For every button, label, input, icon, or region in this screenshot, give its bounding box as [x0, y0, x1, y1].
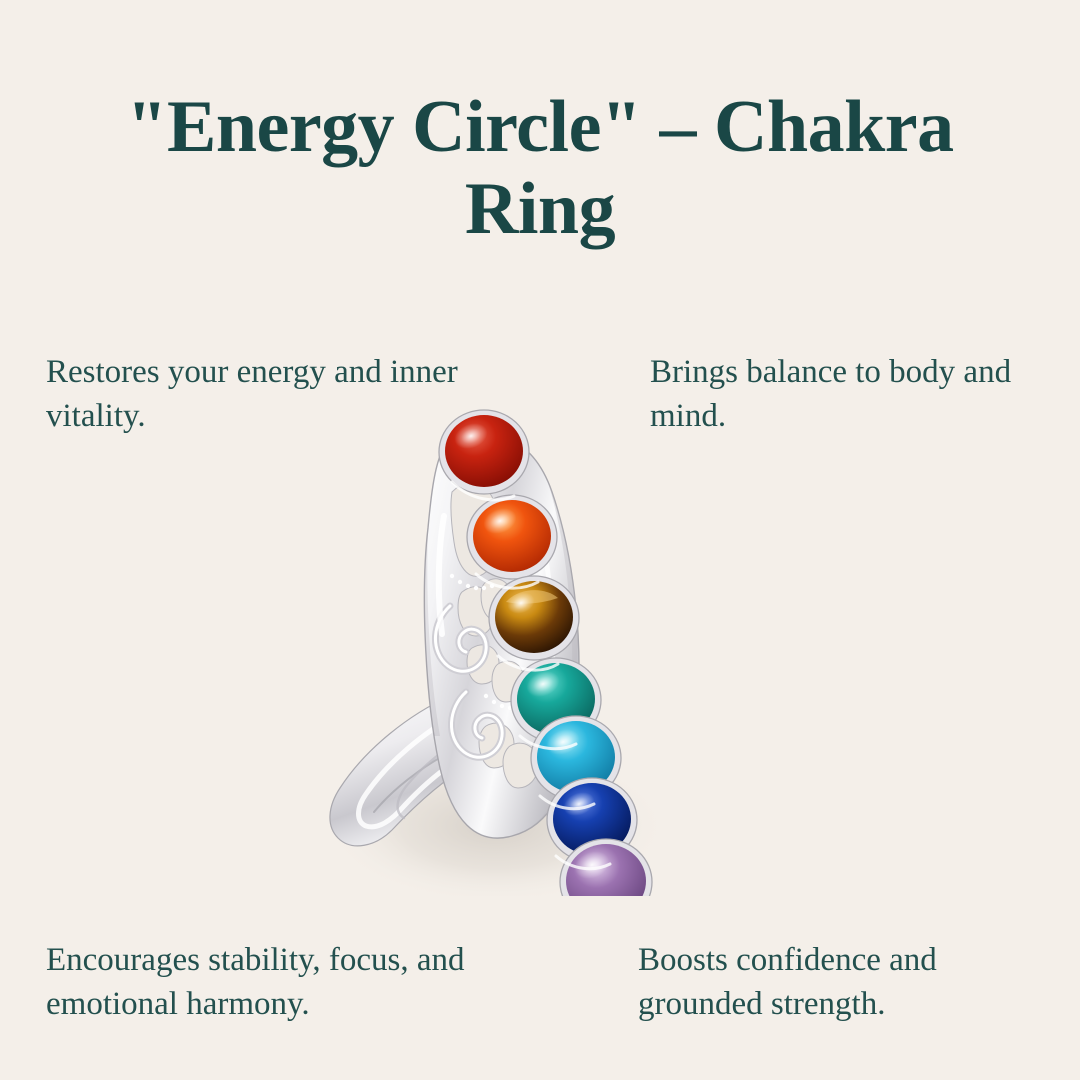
benefit-text-bottom-right: Boosts confidence and grounded strength. [638, 939, 1058, 1026]
benefit-text-top-right: Brings balance to body and mind. [650, 351, 1050, 438]
page-title: "Energy Circle" – Chakra Ring [60, 86, 1020, 252]
chakra-ring-illustration [300, 396, 700, 896]
solar-plexus-tigers-eye-stone [489, 576, 579, 660]
poster-canvas: "Energy Circle" – Chakra Ring Restores y… [0, 0, 1080, 1080]
sacral-chakra-orange-stone [467, 495, 557, 579]
product-image-chakra-ring [300, 396, 700, 896]
benefit-text-bottom-left: Encourages stability, focus, and emotion… [46, 939, 536, 1026]
